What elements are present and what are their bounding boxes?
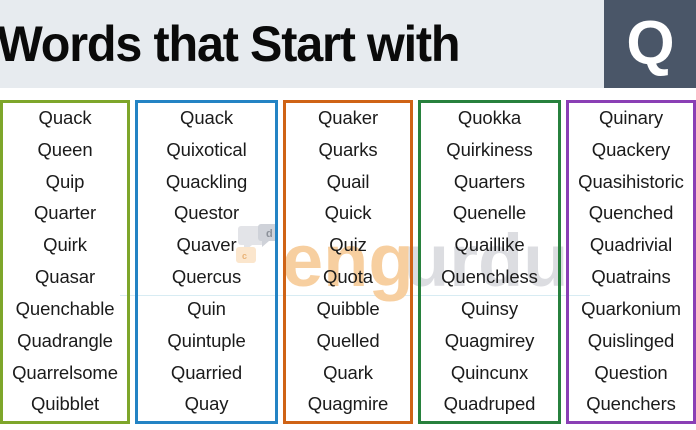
word-item: Quaillike (454, 236, 524, 255)
word-item: Quota (323, 268, 373, 287)
word-item: Questor (174, 204, 239, 223)
word-item: Quiz (329, 236, 367, 255)
word-item: Quenchers (586, 395, 676, 414)
letter-badge-text: Q (626, 13, 673, 75)
word-item: Quenelle (453, 204, 526, 223)
word-item: Quintuple (167, 332, 245, 351)
word-item: Quinsy (461, 300, 518, 319)
word-columns-container: QuackQueenQuipQuarterQuirkQuasarQuenchab… (0, 100, 696, 424)
word-item: Quadrangle (17, 332, 113, 351)
word-item: Quenchless (441, 268, 538, 287)
word-item: Quirk (43, 236, 87, 255)
word-item: Quarried (171, 364, 242, 383)
word-item: Quelled (316, 332, 379, 351)
page-title: Words that Start with (0, 19, 459, 69)
word-item: Quibble (316, 300, 379, 319)
word-item: Quack (39, 109, 92, 128)
word-item: Quail (327, 173, 370, 192)
word-item: Quatrains (591, 268, 670, 287)
word-item: Quinary (599, 109, 663, 128)
word-item: Quick (325, 204, 372, 223)
word-item: Quislinged (588, 332, 674, 351)
word-item: Quarkonium (581, 300, 681, 319)
word-item: Quarks (318, 141, 377, 160)
word-item: Quaker (318, 109, 378, 128)
word-column-5: QuinaryQuackeryQuasihistoricQuenchedQuad… (566, 100, 696, 424)
word-item: Quagmirey (445, 332, 535, 351)
word-item: Quincunx (451, 364, 528, 383)
word-item: Quadrivial (590, 236, 672, 255)
word-item: Quarter (34, 204, 96, 223)
word-item: Quackery (592, 141, 670, 160)
word-item: Quixotical (166, 141, 246, 160)
word-item: Quack (180, 109, 233, 128)
word-item: Quokka (458, 109, 521, 128)
word-item: Quasar (35, 268, 95, 287)
word-item: Quin (187, 300, 226, 319)
word-item: Quarrelsome (12, 364, 118, 383)
word-item: Quagmire (308, 395, 388, 414)
word-item: Quip (46, 173, 85, 192)
word-item: Quark (323, 364, 373, 383)
word-item: Queen (38, 141, 93, 160)
word-column-1: QuackQueenQuipQuarterQuirkQuasarQuenchab… (0, 100, 130, 424)
word-item: Quibblet (31, 395, 99, 414)
word-item: Quenchable (16, 300, 115, 319)
word-item: Quercus (172, 268, 241, 287)
word-item: Question (594, 364, 667, 383)
word-item: Quenched (589, 204, 674, 223)
letter-badge: Q (604, 0, 696, 88)
word-item: Quadruped (444, 395, 536, 414)
word-item: Quaver (176, 236, 236, 255)
word-column-2: QuackQuixoticalQuacklingQuestorQuaverQue… (135, 100, 278, 424)
header-bar: Words that Start with Q (0, 0, 696, 88)
word-column-3: QuakerQuarksQuailQuickQuizQuotaQuibbleQu… (283, 100, 413, 424)
word-item: Quackling (166, 173, 247, 192)
word-item: Quarters (454, 173, 525, 192)
word-item: Quay (185, 395, 229, 414)
word-item: Quasihistoric (578, 173, 684, 192)
word-column-4: QuokkaQuirkinessQuartersQuenelleQuaillik… (418, 100, 561, 424)
word-item: Quirkiness (446, 141, 532, 160)
